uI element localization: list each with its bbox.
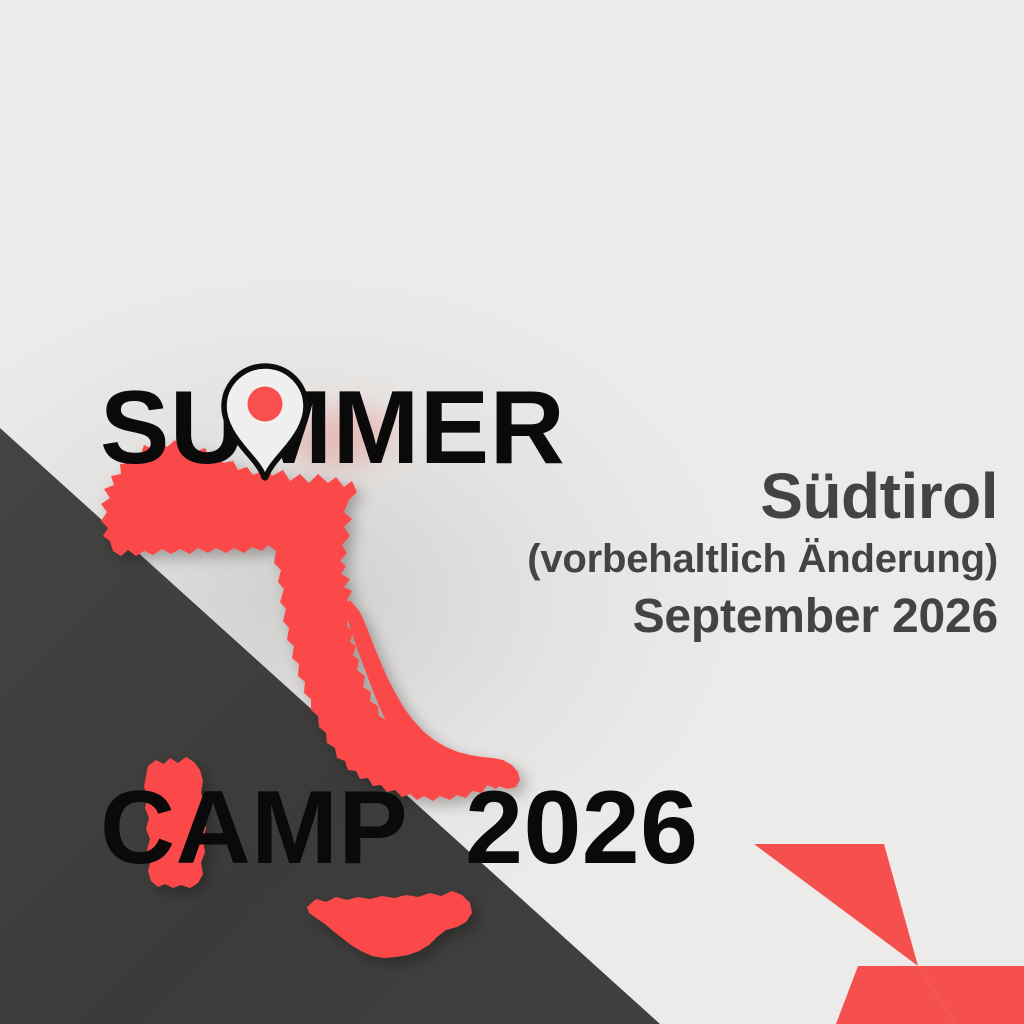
event-date: September 2026 — [378, 587, 998, 647]
event-note: (vorbehaltlich Änderung) — [378, 531, 998, 587]
poster-canvas: SUMMER CAMP 2026 Südtirol (vorbehaltlich… — [0, 0, 1024, 1024]
map-pin-icon — [224, 366, 306, 478]
headline-line-2: CAMP 2026 — [100, 762, 698, 895]
logo-triangle-upper-left — [754, 844, 918, 966]
pinwheel-logo — [724, 816, 1024, 1024]
location-pin[interactable] — [219, 362, 311, 484]
event-location: Südtirol — [378, 462, 998, 531]
event-info: Südtirol (vorbehaltlich Änderung) Septem… — [378, 462, 998, 648]
map-pin-dot — [248, 387, 283, 422]
